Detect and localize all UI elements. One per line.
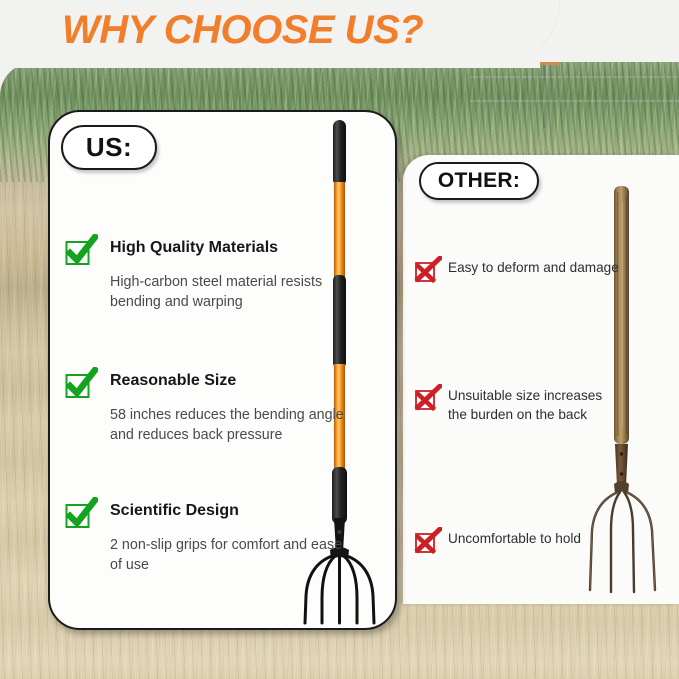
utility-pole	[543, 62, 546, 128]
power-wire-upper	[470, 76, 679, 78]
green-check-icon	[64, 497, 98, 531]
feature-title: High Quality Materials	[110, 239, 278, 257]
red-x-icon	[414, 527, 442, 555]
header-banner-curve	[470, 0, 560, 68]
comparison-infographic: WHY CHOOSE US?	[0, 0, 679, 679]
us-label-text: US:	[86, 132, 132, 163]
feature-description: High-carbon steel material resists bendi…	[110, 272, 348, 312]
page-title: WHY CHOOSE US?	[62, 8, 423, 53]
feature-title: Reasonable Size	[110, 372, 236, 390]
red-x-icon	[414, 384, 442, 412]
red-x-icon	[414, 256, 442, 284]
power-wire-lower	[470, 100, 679, 102]
us-label-pill: US:	[61, 125, 157, 170]
other-label-pill: OTHER:	[419, 162, 539, 200]
green-check-icon	[64, 234, 98, 268]
other-label-text: OTHER:	[438, 169, 520, 193]
feature-title: Scientific Design	[110, 502, 239, 520]
green-check-icon	[64, 367, 98, 401]
con-text: Easy to deform and damage	[448, 258, 620, 277]
feature-description: 2 non-slip grips for comfort and ease of…	[110, 535, 348, 575]
con-text: Unsuitable size increases the burden on …	[448, 386, 620, 424]
feature-description: 58 inches reduces the bending angle and …	[110, 405, 348, 445]
con-text: Uncomfortable to hold	[448, 529, 620, 548]
